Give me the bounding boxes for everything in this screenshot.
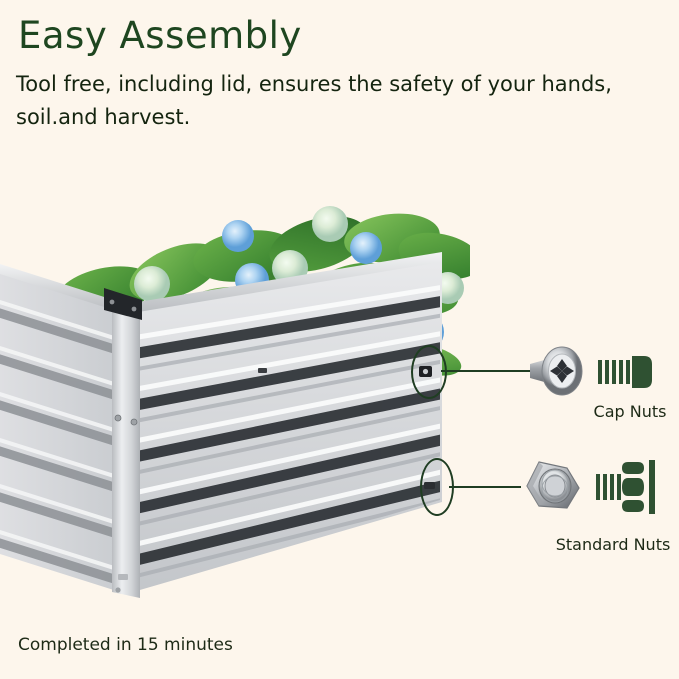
post-screw: [131, 419, 137, 425]
cap-nuts-marker: [411, 345, 447, 399]
cap-nuts-leader-line: [441, 370, 531, 372]
footer-caption: Completed in 15 minutes: [18, 635, 233, 655]
cap-nut-diagram-icon: [596, 346, 654, 398]
front-bolt-upper: [258, 368, 267, 373]
standard-nuts-leader-line: [449, 486, 521, 488]
bed-front-panel: [120, 252, 450, 594]
product-scene: [0, 160, 470, 610]
post-screw: [115, 415, 121, 421]
front-bolt-lower: [262, 478, 271, 483]
hex-nut-photo: [519, 456, 585, 518]
standard-nuts-label: Standard Nuts: [556, 535, 671, 554]
phillips-screw-photo: [524, 342, 586, 400]
infographic-page: Easy Assembly Tool free, including lid, …: [0, 0, 679, 679]
page-title: Easy Assembly: [18, 14, 302, 57]
bed-left-panel: [0, 264, 130, 592]
cap-nuts-label: Cap Nuts: [594, 402, 667, 421]
page-subtitle: Tool free, including lid, ensures the sa…: [16, 68, 626, 134]
standard-nut-diagram-icon: [594, 458, 658, 516]
raised-garden-bed: [0, 160, 470, 610]
